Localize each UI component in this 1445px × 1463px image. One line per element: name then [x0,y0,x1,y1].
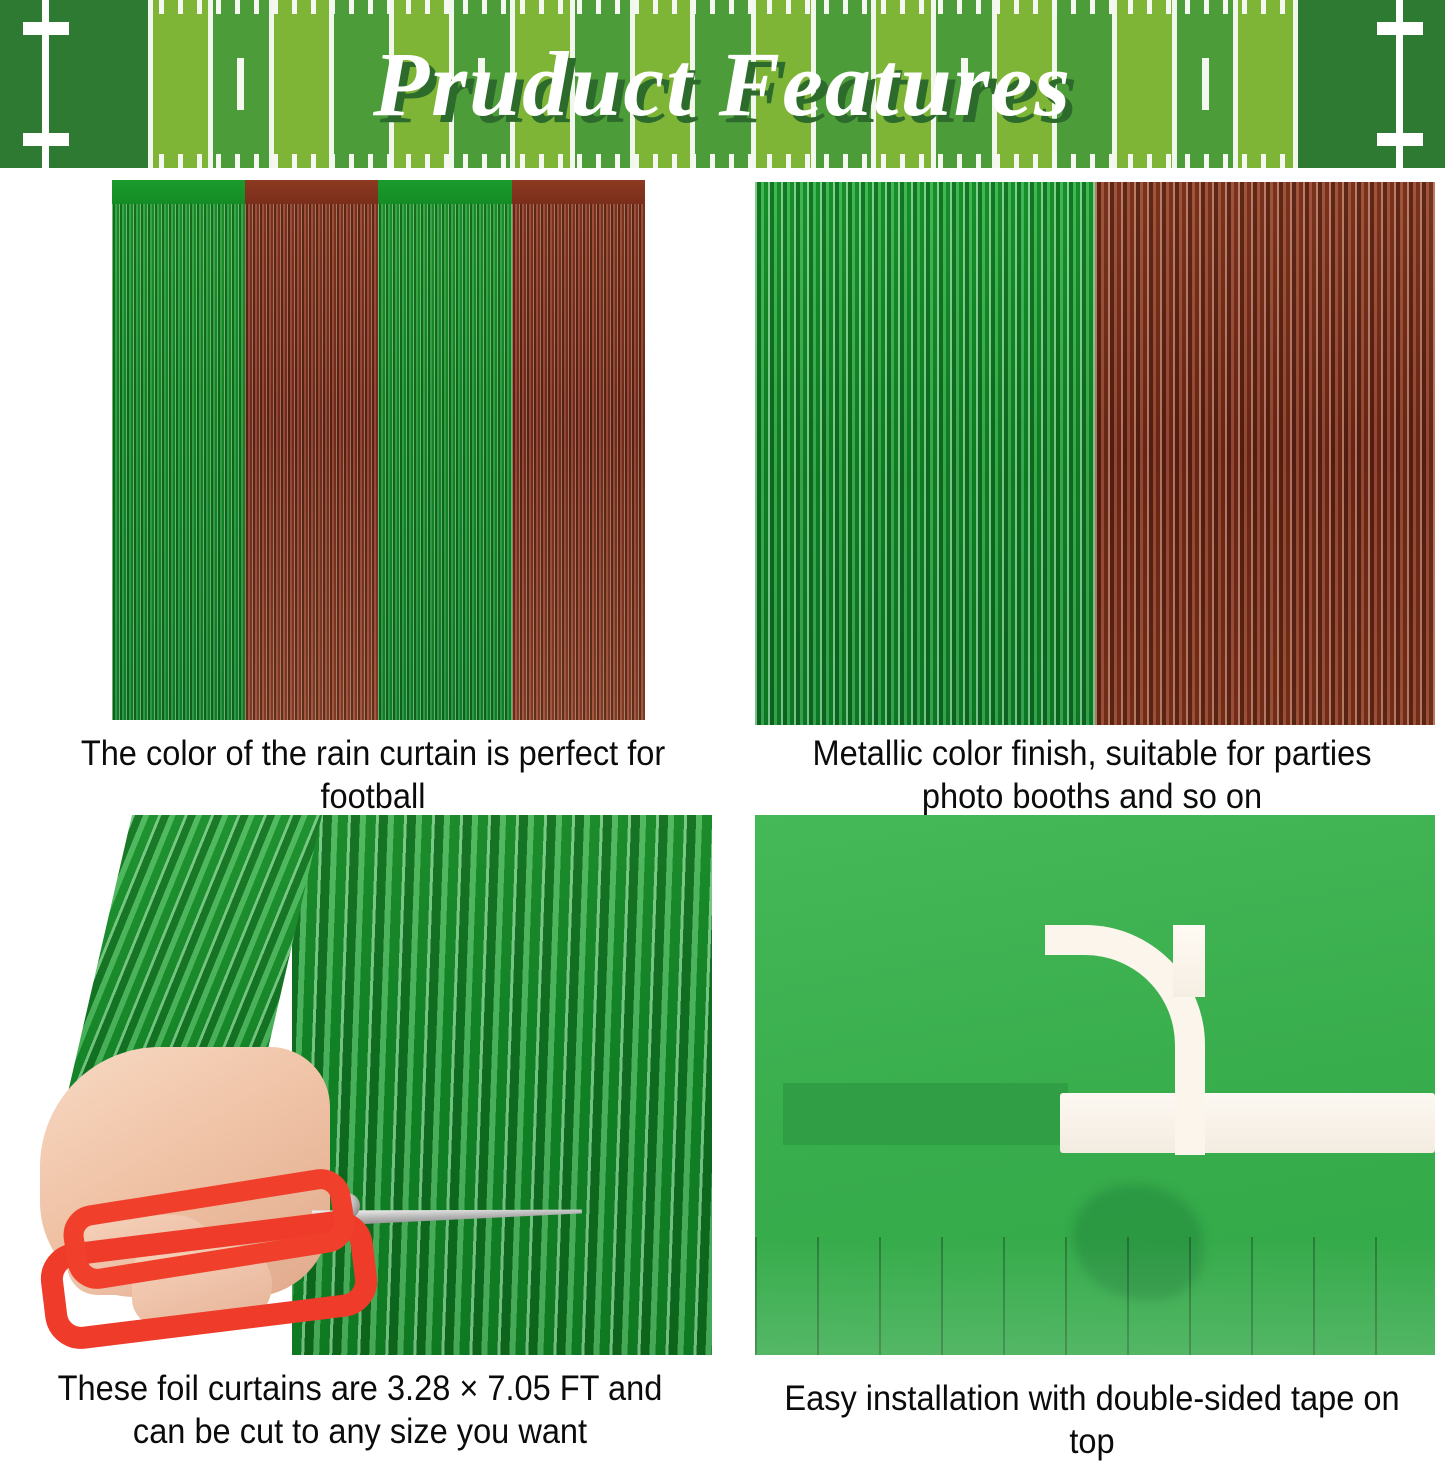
curtain-closeup-brown [1095,182,1435,725]
football-field-header: Pruduct Features [0,0,1445,168]
feature-2-caption: Metallic color finish, suitable for part… [767,733,1418,818]
curtain-header-strip [378,180,512,204]
curtain-panel-green-2 [378,180,512,720]
foil-curtain-four-panel-photo [112,180,645,720]
feature-4-caption: Easy installation with double-sided tape… [767,1378,1418,1463]
curtain-panel-brown-1 [245,180,378,720]
feature-3-caption: These foil curtains are 3.28 × 7.05 FT a… [35,1368,686,1453]
page-title: Pruduct Features [0,0,1445,168]
curtain-panel-green-1 [112,180,245,720]
fringe-shine-overlay [755,1237,1435,1355]
curtain-header-strip [112,180,245,204]
curtain-closeup-green [755,182,1095,725]
scissors-cutting-curtain-photo [12,815,712,1355]
curtain-header-strip [245,180,378,204]
double-sided-tape-photo [755,815,1435,1355]
caption-line: Easy installation with double-sided tape… [767,1378,1418,1463]
tape-free-end [1173,925,1205,997]
caption-line: These foil curtains are 3.28 × 7.05 FT a… [35,1368,686,1411]
caption-line: The color of the rain curtain is perfect… [35,733,710,818]
caption-line: can be cut to any size you want [35,1411,686,1454]
curtain-top-dark-band [783,1083,1068,1145]
foil-curtain-closeup-photo [755,182,1435,725]
caption-line: Metallic color finish, suitable for part… [767,733,1418,776]
curtain-header-strip [512,180,645,204]
curtain-panel-brown-2 [512,180,645,720]
caption-line: photo booths and so on [767,776,1418,819]
